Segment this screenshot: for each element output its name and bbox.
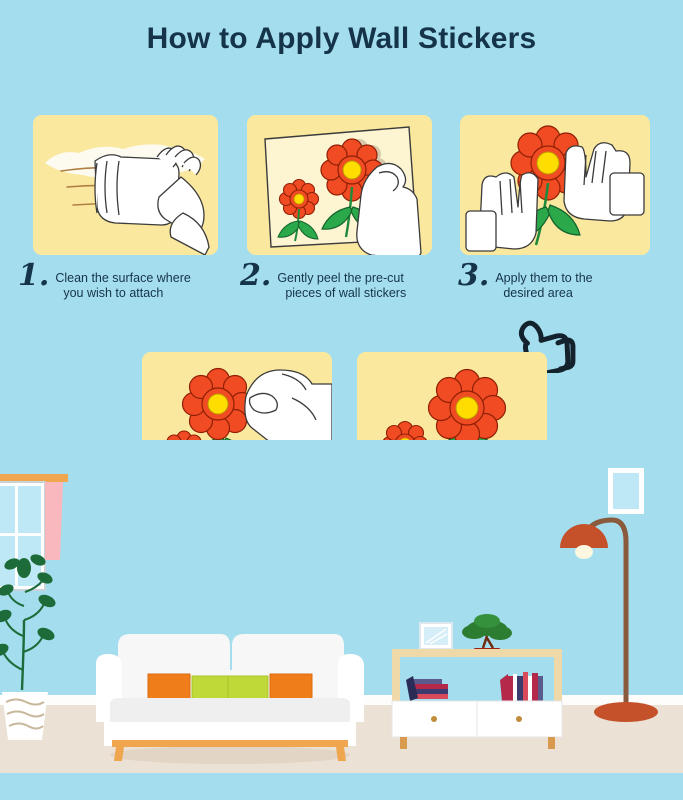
step-2-number: 2. [240,262,271,290]
wall-picture-frame [608,468,644,514]
living-room-scene [0,440,683,800]
step-3-caption: 3. Apply them to the desired area [458,262,668,301]
step-1-number: 1. [18,262,49,290]
step-2-illustration-card [247,115,432,255]
step-3-number: 3. [458,262,489,290]
step-3-illustration-card [460,115,650,255]
sofa [96,634,364,764]
page-title: How to Apply Wall Stickers [0,22,683,56]
step-3-text: Apply them to the desired area [495,262,592,301]
books-row [500,672,543,701]
step-2-text: Gently peel the pre-cut pieces of wall s… [277,262,406,301]
step-1-caption: 1. Clean the surface where you wish to a… [18,262,228,301]
infographic-canvas: How to Apply Wall Stickers [0,0,683,800]
books-stack [406,676,448,701]
step-1-illustration-card [33,115,218,255]
step-2-caption: 2. Gently peel the pre-cut pieces of wal… [240,262,450,301]
step-1-text: Clean the surface where you wish to atta… [55,262,191,301]
